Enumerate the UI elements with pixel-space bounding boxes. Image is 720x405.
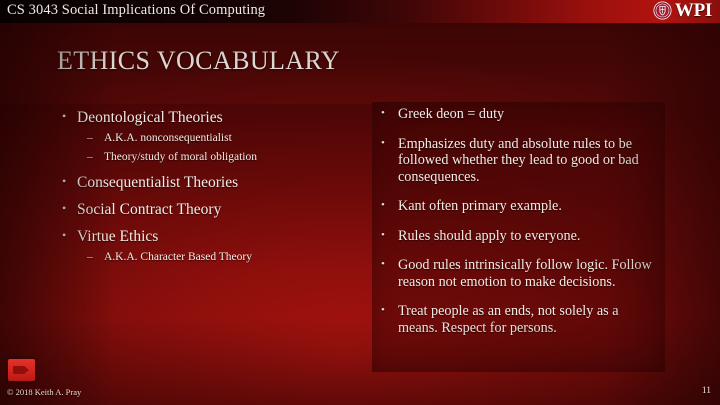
right-bullet-list: Greek deon = duty Emphasizes duty and ab… [378, 106, 660, 336]
wpi-seal-icon [653, 1, 672, 20]
list-item: Virtue Ethics [60, 227, 360, 246]
video-camera-icon[interactable] [8, 359, 35, 381]
list-item: Greek deon = duty [378, 106, 660, 123]
presentation-slide: CS 3043 Social Implications Of Computing… [0, 0, 720, 405]
video-camera-glyph [13, 366, 25, 374]
list-item: A.K.A. Character Based Theory [60, 249, 360, 265]
course-title: CS 3043 Social Implications Of Computing [7, 2, 265, 19]
page-number: 11 [702, 386, 711, 396]
wpi-logo-text: WPI [675, 1, 712, 20]
left-bullet-list: Deontological Theories A.K.A. nonconsequ… [60, 108, 360, 265]
list-item: Rules should apply to everyone. [378, 228, 660, 245]
list-item: Consequentialist Theories [60, 173, 360, 192]
copyright-notice: © 2018 Keith A. Pray [7, 387, 81, 397]
list-item: Treat people as an ends, not solely as a… [378, 303, 660, 336]
list-item: Emphasizes duty and absolute rules to be… [378, 136, 660, 186]
list-item: Social Contract Theory [60, 200, 360, 219]
list-item: Deontological Theories [60, 108, 360, 127]
wpi-logo: WPI [653, 1, 712, 20]
slide-header-bar: CS 3043 Social Implications Of Computing… [0, 0, 720, 23]
list-item: Kant often primary example. [378, 198, 660, 215]
list-item: Good rules intrinsically follow logic. F… [378, 257, 660, 290]
slide-title: ETHICS VOCABULARY [57, 46, 340, 76]
list-item: A.K.A. nonconsequentialist [60, 130, 360, 146]
list-item: Theory/study of moral obligation [60, 149, 360, 165]
